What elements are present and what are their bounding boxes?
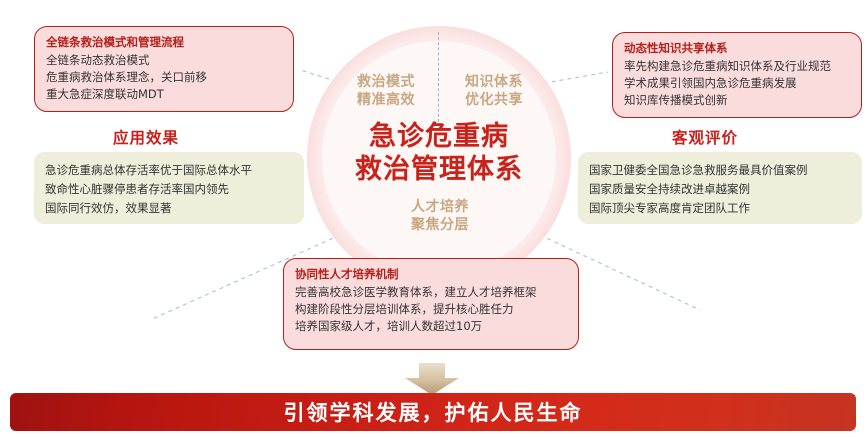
callout-knowledge-line-1: 率先构建急诊危重病知识体系及行业规范 (624, 58, 850, 75)
effect-line-2: 致命性心脏骤停患者存活率国内领先 (45, 180, 293, 199)
callout-talent-line-2: 构建阶段性分层培训体系，提升核心胜任力 (295, 301, 567, 318)
quadrant-line-1: 知识体系 (446, 73, 542, 91)
circle-quadrant-bottom: 人才培养 聚焦分层 (390, 198, 490, 234)
infographic-canvas: 救治模式 精准高效 知识体系 优化共享 人才培养 聚焦分层 急诊危重病 救治管理… (0, 0, 866, 437)
circle-divider (438, 32, 439, 122)
callout-talent-mechanism: 协同性人才培养机制 完善高校急诊医学教育体系，建立人才培养框架 构建阶段性分层培… (283, 258, 579, 350)
evaluation-line-2: 国家质量安全持续改进卓越案例 (589, 180, 851, 199)
callout-talent-title: 协同性人才培养机制 (295, 266, 567, 283)
callout-chain-line-3: 重大急症深度联动MDT (46, 86, 282, 103)
callout-chain-line-1: 全链条动态救治模式 (46, 52, 282, 69)
panel-objective-evaluation: 国家卫健委全国急诊急救服务最具价值案例 国家质量安全持续改进卓越案例 国际顶尖专… (578, 152, 862, 224)
callout-chain-title: 全链条救治模式和管理流程 (46, 34, 282, 51)
evaluation-line-1: 国家卫健委全国急诊急救服务最具价值案例 (589, 161, 851, 180)
center-title-line-1: 急诊危重病 (322, 120, 556, 153)
heading-application-effect: 应用效果 (113, 128, 179, 148)
quadrant-line-2: 聚焦分层 (390, 216, 490, 234)
quadrant-line-2: 优化共享 (446, 91, 542, 109)
down-arrow-icon (401, 363, 463, 395)
center-title-line-2: 救治管理体系 (322, 153, 556, 186)
evaluation-line-3: 国际顶尖专家高度肯定团队工作 (589, 199, 851, 218)
callout-talent-line-3: 培养国家级人才，培训人数超过10万 (295, 318, 567, 335)
effect-line-1: 急诊危重病总体存活率优于国际总体水平 (45, 161, 293, 180)
callout-talent-line-1: 完善高校急诊医学教育体系，建立人才培养框架 (295, 284, 567, 301)
circle-quadrant-top-right: 知识体系 优化共享 (446, 73, 542, 109)
center-title: 急诊危重病 救治管理体系 (322, 120, 556, 186)
callout-knowledge-title: 动态性知识共享体系 (624, 40, 850, 57)
callout-chain-line-2: 危重病救治体系理念，关口前移 (46, 69, 282, 86)
heading-objective-evaluation: 客观评价 (672, 128, 738, 148)
effect-line-3: 国际同行效仿，效果显著 (45, 199, 293, 218)
callout-knowledge-line-2: 学术成果引领国内急诊危重病发展 (624, 75, 850, 92)
panel-application-effect: 急诊危重病总体存活率优于国际总体水平 致命性心脏骤停患者存活率国内领先 国际同行… (34, 152, 304, 224)
callout-knowledge-line-3: 知识库传播模式创新 (624, 92, 850, 109)
bottom-banner: 引领学科发展，护佑人民生命 (10, 393, 856, 431)
quadrant-line-2: 精准高效 (338, 91, 434, 109)
circle-quadrant-top-left: 救治模式 精准高效 (338, 73, 434, 109)
quadrant-line-1: 人才培养 (390, 198, 490, 216)
banner-text: 引领学科发展，护佑人民生命 (284, 397, 583, 427)
quadrant-line-1: 救治模式 (338, 73, 434, 91)
callout-knowledge-system: 动态性知识共享体系 率先构建急诊危重病知识体系及行业规范 学术成果引领国内急诊危… (612, 32, 862, 118)
callout-chain-model: 全链条救治模式和管理流程 全链条动态救治模式 危重病救治体系理念，关口前移 重大… (34, 26, 294, 112)
